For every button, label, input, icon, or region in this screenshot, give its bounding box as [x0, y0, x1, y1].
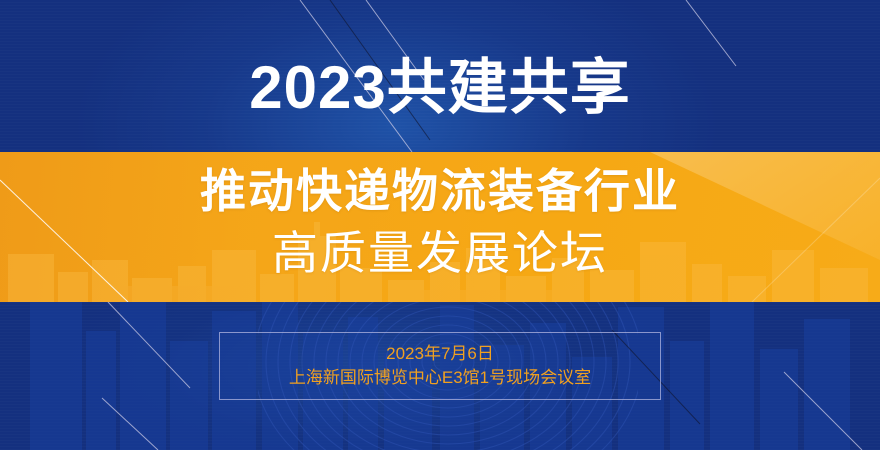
event-date: 2023年7月6日 [386, 344, 494, 364]
orange-highlight-band: 推动快递物流装备行业 高质量发展论坛 [0, 152, 880, 302]
forum-poster: 2023共建共享 [0, 0, 880, 450]
subtitle-line-1: 推动快递物流装备行业 [0, 168, 880, 214]
event-info-box: 2023年7月6日 上海新国际博览中心E3馆1号现场会议室 [219, 332, 661, 400]
page-title: 2023共建共享 [0, 58, 880, 118]
subtitle-line-2: 高质量发展论坛 [0, 230, 880, 276]
event-venue: 上海新国际博览中心E3馆1号现场会议室 [289, 368, 591, 388]
